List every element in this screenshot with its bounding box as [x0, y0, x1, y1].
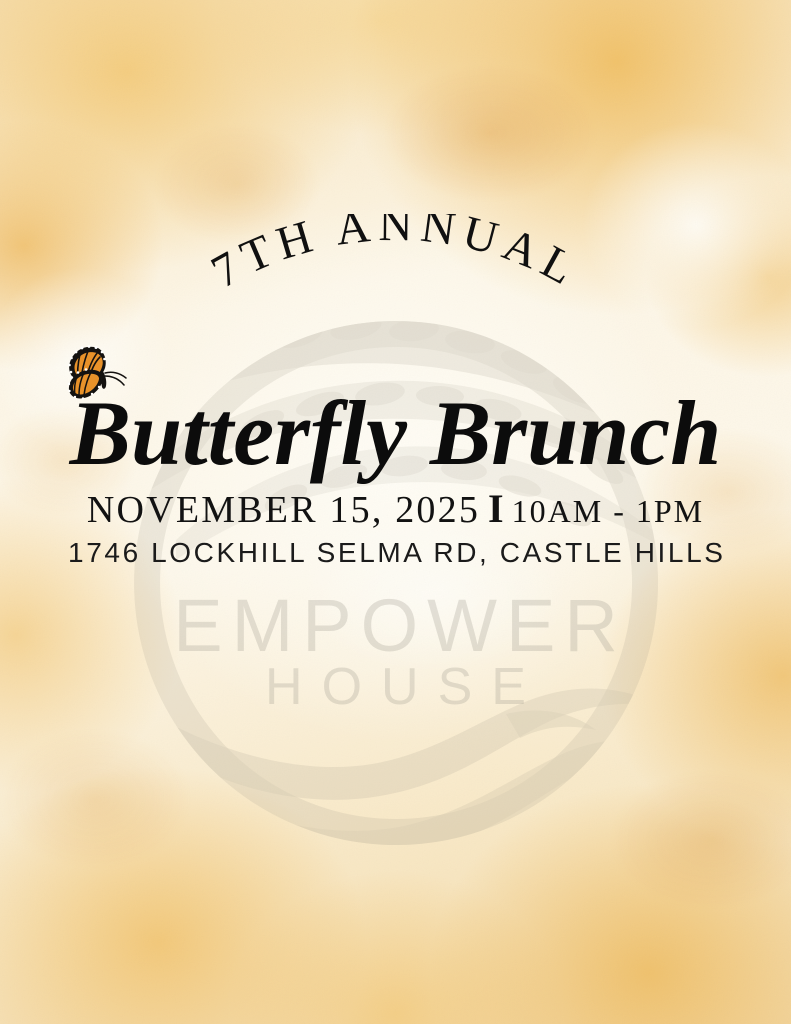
eyebrow-text: 7TH ANNUAL [203, 214, 589, 298]
event-time: 10AM - 1PM [512, 493, 704, 529]
watermark-org-name-line2: HOUSE [0, 661, 791, 713]
event-flyer: EMPOWER HOUSE 7TH ANNUAL [0, 0, 791, 1024]
datetime-separator: I [480, 486, 512, 531]
event-date: NOVEMBER 15, 2025 [87, 489, 480, 531]
event-address: 1746 LOCKHILL SELMA RD, CASTLE HILLS [0, 539, 791, 567]
page-title: Butterfly Brunch [0, 387, 791, 479]
event-datetime: NOVEMBER 15, 2025I10AM - 1PM [0, 489, 791, 529]
watermark-org-name-line1: EMPOWER [0, 589, 791, 663]
eyebrow-arch: 7TH ANNUAL [0, 214, 791, 354]
